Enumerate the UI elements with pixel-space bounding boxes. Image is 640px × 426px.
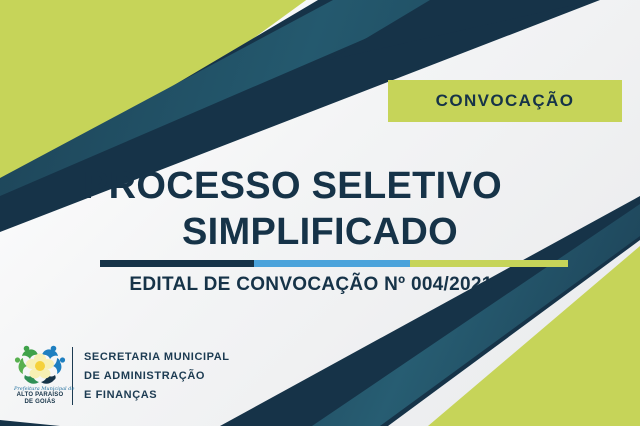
poster-canvas: CONVOCAÇÃO PROCESSO SELETIVO SIMPLIFICAD… (0, 0, 640, 426)
emblem-city-name: ALTO PARAÍSO (14, 392, 66, 399)
convocacao-badge: CONVOCAÇÃO (388, 80, 622, 122)
page-title-line-2: SIMPLIFICADO (0, 209, 640, 255)
divider-segment-blue (254, 260, 410, 267)
footer-identity: Prefeitura Municipal de ALTO PARAÍSO DE … (14, 344, 230, 408)
page-title: PROCESSO SELETIVO SIMPLIFICADO (0, 163, 640, 255)
divider-segment-lime (410, 260, 568, 267)
city-emblem-icon: Prefeitura Municipal de ALTO PARAÍSO DE … (14, 344, 66, 408)
page-title-line-1: PROCESSO SELETIVO (0, 163, 640, 209)
divider-segment-navy (100, 260, 254, 267)
tricolor-divider (100, 260, 568, 267)
edital-subtitle: EDITAL DE CONVOCAÇÃO Nº 004/2021 (0, 274, 640, 296)
footer-vertical-divider (72, 347, 73, 405)
convocacao-badge-label: CONVOCAÇÃO (436, 91, 575, 111)
emblem-city-text: Prefeitura Municipal de ALTO PARAÍSO DE … (14, 386, 66, 406)
organization-name: SECRETARIA MUNICIPAL DE ADMINISTRAÇÃO E … (84, 348, 230, 405)
emblem-figures-icon (14, 344, 66, 390)
poster-content: CONVOCAÇÃO PROCESSO SELETIVO SIMPLIFICAD… (0, 0, 640, 426)
emblem-city-state: DE GOIÁS (14, 399, 66, 406)
organization-line-2: DE ADMINISTRAÇÃO (84, 367, 230, 386)
organization-line-3: E FINANÇAS (84, 386, 230, 405)
organization-line-1: SECRETARIA MUNICIPAL (84, 348, 230, 367)
